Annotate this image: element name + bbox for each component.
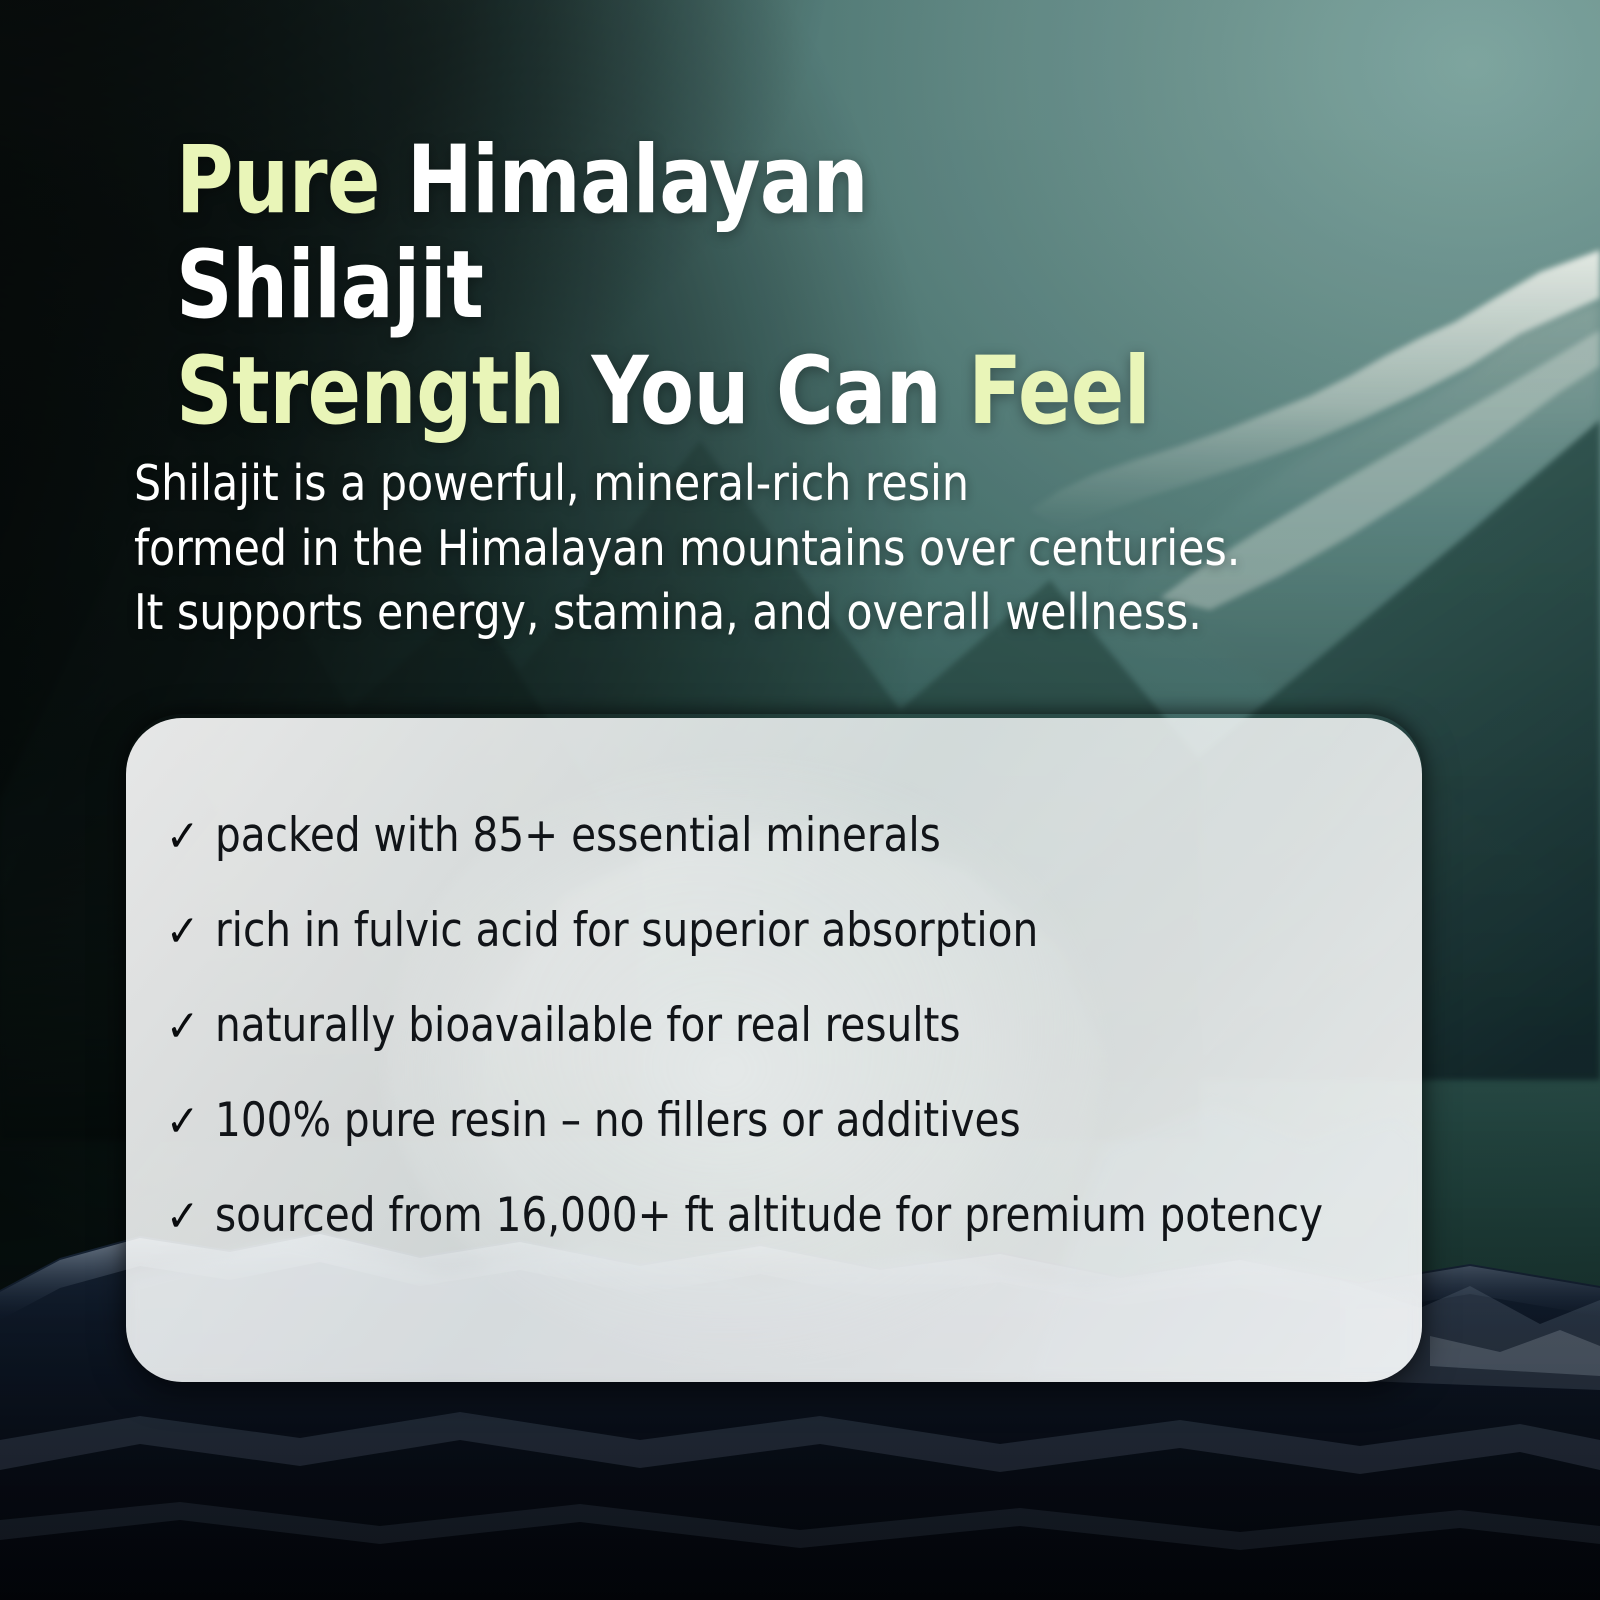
benefit-list: ✓ packed with 85+ essential minerals ✓ r…: [166, 788, 1404, 1263]
page-title: Pure Himalayan ShilajitStrength You Can …: [176, 128, 1199, 444]
list-item: ✓ packed with 85+ essential minerals: [166, 788, 1404, 883]
intro-line-2: formed in the Himalayan mountains over c…: [134, 517, 1414, 582]
headline-accent-feel: Feel: [968, 337, 1150, 446]
headline-accent-pure: Pure: [176, 126, 407, 235]
list-item: ✓ rich in fulvic acid for superior absor…: [166, 883, 1404, 978]
list-item: ✓ 100% pure resin – no fillers or additi…: [166, 1073, 1404, 1168]
check-icon: ✓: [166, 884, 199, 979]
check-icon: ✓: [166, 1074, 199, 1169]
promo-poster: Pure Himalayan ShilajitStrength You Can …: [0, 0, 1600, 1600]
headline-mid-line2: You Can: [592, 337, 969, 446]
feature-card: ✓ packed with 85+ essential minerals ✓ r…: [126, 718, 1422, 1382]
check-icon: ✓: [166, 1169, 199, 1264]
list-item: ✓ sourced from 16,000+ ft altitude for p…: [166, 1168, 1404, 1263]
check-icon: ✓: [166, 979, 199, 1074]
benefit-text: packed with 85+ essential minerals: [215, 788, 941, 883]
benefit-text: naturally bioavailable for real results: [215, 978, 961, 1073]
list-item: ✓ naturally bioavailable for real result…: [166, 978, 1404, 1073]
intro-line-1: Shilajit is a powerful, mineral-rich res…: [134, 452, 1414, 517]
intro-paragraph: Shilajit is a powerful, mineral-rich res…: [134, 452, 1414, 646]
benefit-text: 100% pure resin – no fillers or additive…: [215, 1073, 1021, 1168]
benefit-text: sourced from 16,000+ ft altitude for pre…: [215, 1168, 1323, 1263]
headline-accent-strength: Strength: [176, 337, 592, 446]
intro-line-3: It supports energy, stamina, and overall…: [134, 581, 1414, 646]
check-icon: ✓: [166, 789, 199, 884]
benefit-text: rich in fulvic acid for superior absorpt…: [215, 883, 1038, 978]
